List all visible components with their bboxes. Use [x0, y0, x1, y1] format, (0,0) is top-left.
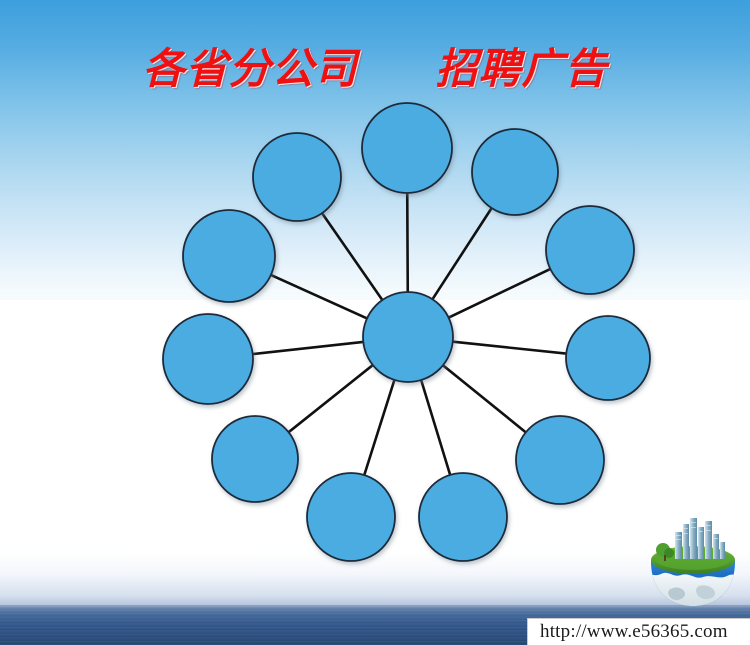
- nodes-group: [163, 103, 650, 561]
- slide-canvas: 各省分公司 招聘广告: [0, 0, 750, 645]
- spoke-line-5: [442, 365, 526, 433]
- spoke-line-10: [270, 275, 368, 319]
- branch-node-3[interactable]: [546, 206, 634, 294]
- branch-node-4-shape[interactable]: [566, 316, 650, 400]
- spoke-line-8: [288, 364, 374, 432]
- earth-city-globe-logo: [641, 516, 745, 612]
- branch-node-7-shape[interactable]: [307, 473, 395, 561]
- center-hub-node[interactable]: [363, 292, 453, 382]
- hub-and-spoke-diagram: [0, 0, 750, 645]
- branch-node-10[interactable]: [183, 210, 275, 302]
- branch-node-5[interactable]: [516, 416, 604, 504]
- branch-node-8[interactable]: [212, 416, 298, 502]
- branch-node-10-shape[interactable]: [183, 210, 275, 302]
- globe-map-region: [641, 573, 745, 612]
- diagram-canvas: [0, 0, 750, 645]
- branch-node-8-shape[interactable]: [212, 416, 298, 502]
- spoke-line-7: [364, 379, 395, 476]
- branch-node-1[interactable]: [362, 103, 452, 193]
- center-hub-node-shape[interactable]: [363, 292, 453, 382]
- branch-node-2-shape[interactable]: [472, 129, 558, 215]
- branch-node-6[interactable]: [419, 473, 507, 561]
- spoke-line-11: [322, 212, 383, 301]
- branch-node-4[interactable]: [566, 316, 650, 400]
- spoke-line-1: [407, 192, 408, 293]
- branch-node-5-shape[interactable]: [516, 416, 604, 504]
- branch-node-11[interactable]: [253, 133, 341, 221]
- watermark-bar: http://www.e56365.com: [527, 618, 750, 645]
- watermark-url: http://www.e56365.com: [540, 621, 728, 643]
- branch-node-11-shape[interactable]: [253, 133, 341, 221]
- spoke-line-9: [252, 342, 365, 354]
- branch-node-2[interactable]: [472, 129, 558, 215]
- branch-node-9[interactable]: [163, 314, 253, 404]
- spoke-line-4: [452, 342, 567, 354]
- branch-node-1-shape[interactable]: [362, 103, 452, 193]
- branch-node-7[interactable]: [307, 473, 395, 561]
- spoke-line-6: [421, 379, 451, 476]
- branch-node-3-shape[interactable]: [546, 206, 634, 294]
- spoke-line-2: [432, 207, 492, 300]
- branch-node-9-shape[interactable]: [163, 314, 253, 404]
- spoke-line-3: [448, 269, 552, 318]
- branch-node-6-shape[interactable]: [419, 473, 507, 561]
